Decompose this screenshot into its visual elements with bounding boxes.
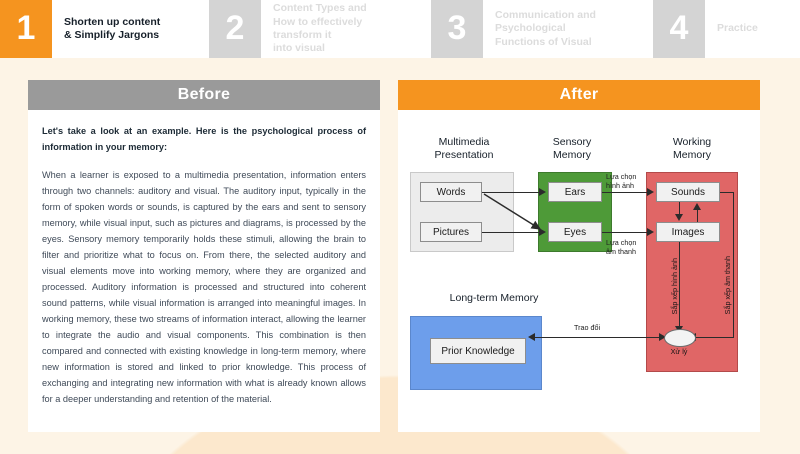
step-item-4[interactable]: 4 Practice bbox=[653, 0, 800, 58]
process-ellipse bbox=[664, 329, 696, 347]
before-lead-text: Let's take a look at an example. Here is… bbox=[42, 124, 366, 156]
step-number-4: 4 bbox=[653, 0, 705, 58]
edge-words-eyes-diagonal bbox=[398, 110, 760, 432]
arrowhead-eyes-images bbox=[647, 228, 654, 236]
edge-label-organize-sounds: Sắp xếp âm thanh bbox=[723, 256, 732, 314]
step-label-1: Shorten up content & Simplify Jargons bbox=[52, 0, 209, 58]
after-panel-title: After bbox=[398, 80, 760, 110]
edge-label-organize-images: Sắp xếp hình ảnh bbox=[670, 258, 679, 314]
step-item-2[interactable]: 2 Content Types and How to effectively t… bbox=[209, 0, 431, 58]
edge-ears-sounds bbox=[602, 192, 648, 193]
edge-label-exchange: Trao đổi bbox=[574, 323, 624, 332]
before-panel-title: Before bbox=[28, 80, 380, 110]
memory-process-diagram: Multimedia Presentation Sensory Memory W… bbox=[398, 110, 760, 432]
edge-label-select-images: Lựa chọn hình ảnh bbox=[606, 172, 652, 191]
edge-label-select-sounds: Lựa chọn âm thanh bbox=[606, 238, 652, 257]
before-panel: Before Let's take a look at an example. … bbox=[28, 80, 380, 432]
arrowhead-sounds-images bbox=[675, 214, 683, 221]
edge-eyes-images bbox=[602, 232, 648, 233]
arrowhead-process-prior bbox=[528, 333, 535, 341]
step-label-2: Content Types and How to effectively tra… bbox=[261, 0, 431, 58]
step-item-1[interactable]: 1 Shorten up content & Simplify Jargons bbox=[0, 0, 209, 58]
step-navigation-bar: 1 Shorten up content & Simplify Jargons … bbox=[0, 0, 800, 58]
step-number-3: 3 bbox=[431, 0, 483, 58]
step-number-1: 1 bbox=[0, 0, 52, 58]
before-paragraph-text: When a learner is exposed to a multimedi… bbox=[42, 167, 366, 407]
edge-images-process bbox=[679, 242, 680, 328]
step-label-4: Practice bbox=[705, 0, 800, 58]
edge-process-prior bbox=[534, 337, 664, 338]
edge-sounds-loop-bottom bbox=[692, 337, 734, 338]
before-panel-body: Let's take a look at an example. Here is… bbox=[28, 110, 380, 407]
after-panel: After Multimedia Presentation Sensory Me… bbox=[398, 80, 760, 432]
step-label-3: Communication and Psychological Function… bbox=[483, 0, 653, 58]
process-ellipse-label: Xử lý bbox=[660, 347, 698, 356]
arrowhead-images-sounds bbox=[693, 203, 701, 210]
edge-sounds-loop-side bbox=[733, 192, 734, 338]
edge-images-sounds bbox=[697, 210, 698, 222]
step-number-2: 2 bbox=[209, 0, 261, 58]
step-item-3[interactable]: 3 Communication and Psychological Functi… bbox=[431, 0, 653, 58]
